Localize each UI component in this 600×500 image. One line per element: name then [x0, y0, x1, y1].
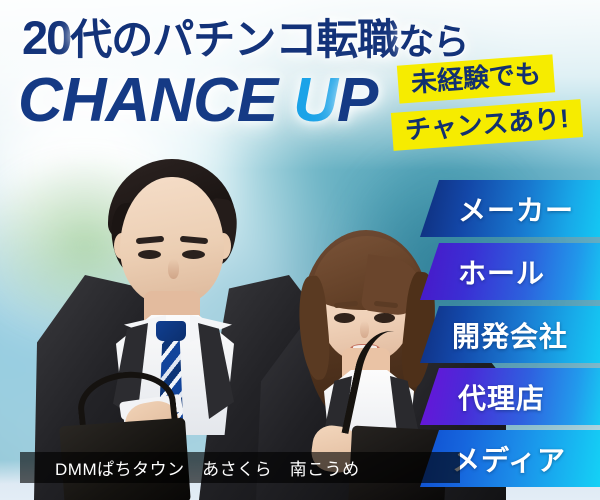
- promo-banner: 20代のパチンコ転職なら CHANCEUP 未経験でも チャンスあり! メーカー…: [0, 0, 600, 500]
- category-button-agency[interactable]: 代理店: [420, 368, 600, 425]
- category-label-maker: メーカー: [420, 189, 574, 229]
- category-label-developer: 開発会社: [420, 315, 568, 355]
- caption-text: DMMぱちタウン あさくら 南こうめ: [20, 455, 360, 480]
- category-button-developer[interactable]: 開発会社: [420, 306, 600, 363]
- caption-bar: DMMぱちタウン あさくら 南こうめ: [20, 452, 460, 483]
- category-label-agency: 代理店: [420, 377, 545, 417]
- category-button-maker[interactable]: メーカー: [420, 180, 600, 237]
- category-button-list: メーカー ホール 開発会社 代理店 メディア: [0, 0, 600, 500]
- category-button-hall[interactable]: ホール: [420, 243, 600, 300]
- category-label-hall: ホール: [420, 252, 545, 292]
